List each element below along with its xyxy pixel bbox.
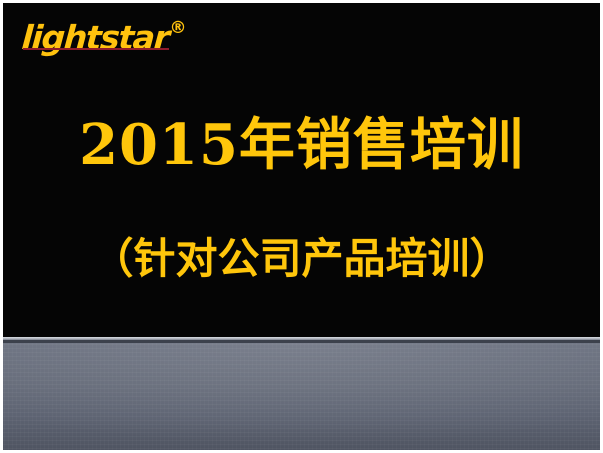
slide-lower-panel — [0, 343, 603, 453]
slide-main-title: 2015年销售培训 — [0, 112, 603, 178]
slide-subtitle: （针对公司产品培训） — [0, 232, 603, 286]
title-group: 2015年销售培训 （针对公司产品培训） — [0, 0, 603, 337]
presentation-slide: lightstar® 2015年销售培训 （针对公司产品培训） — [0, 0, 603, 453]
